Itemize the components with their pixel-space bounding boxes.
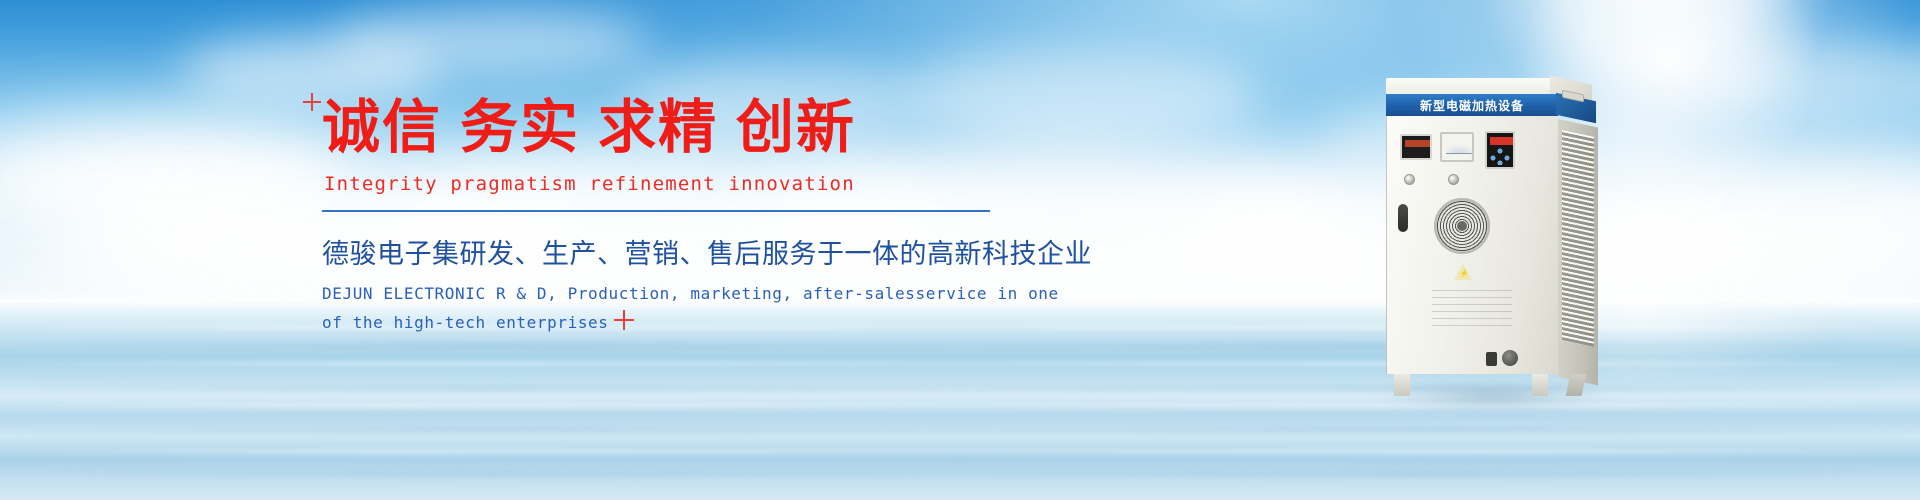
headline-word-2: 务实	[460, 93, 580, 161]
banner-subtitle-chinese: 德骏电子集研发、生产、营销、售后服务于一体的高新科技企业	[322, 232, 1018, 271]
headline-word-4: 创新	[736, 93, 856, 161]
machine-cable-port	[1502, 350, 1518, 366]
machine-keypad	[1489, 148, 1511, 165]
banner-headline: 诚信务实求精创新	[322, 96, 1018, 159]
machine-spec-label	[1432, 290, 1512, 326]
cloud-shape	[330, 8, 650, 74]
machine-leg	[1532, 374, 1548, 396]
machine-door-handle	[1398, 204, 1408, 232]
machine-leg	[1394, 374, 1410, 396]
hero-banner: 诚信务实求精创新 Integrity pragmatism refinement…	[0, 0, 1920, 500]
machine-connector-port	[1486, 352, 1497, 366]
product-machine: 新型电磁加热设备	[1382, 78, 1602, 408]
banner-tagline-english: Integrity pragmatism refinement innovati…	[324, 173, 1018, 195]
machine-brand-label: 新型电磁加热设备	[1420, 97, 1524, 114]
banner-divider	[322, 210, 990, 212]
machine-fan-grille	[1434, 198, 1490, 254]
machine-knob-right	[1448, 174, 1459, 185]
subtitle-english-line-2: of the high-tech enterprises	[322, 308, 1018, 338]
banner-subtitle-english: DEJUN ELECTRONIC R & D, Production, mark…	[322, 279, 1018, 338]
machine-brand-band: 新型电磁加热设备	[1386, 94, 1558, 116]
headline-word-1: 诚信	[322, 93, 442, 161]
machine-knob-left	[1404, 174, 1415, 185]
machine-side-vents	[1562, 130, 1594, 347]
machine-temperature-display	[1400, 134, 1432, 160]
headline-word-3: 求精	[598, 93, 718, 161]
banner-text-block: 诚信务实求精创新 Integrity pragmatism refinement…	[318, 96, 1018, 338]
machine-analog-meter	[1440, 132, 1474, 162]
machine-warning-icon	[1454, 264, 1472, 280]
subtitle-english-line-1: DEJUN ELECTRONIC R & D, Production, mark…	[322, 279, 1018, 309]
